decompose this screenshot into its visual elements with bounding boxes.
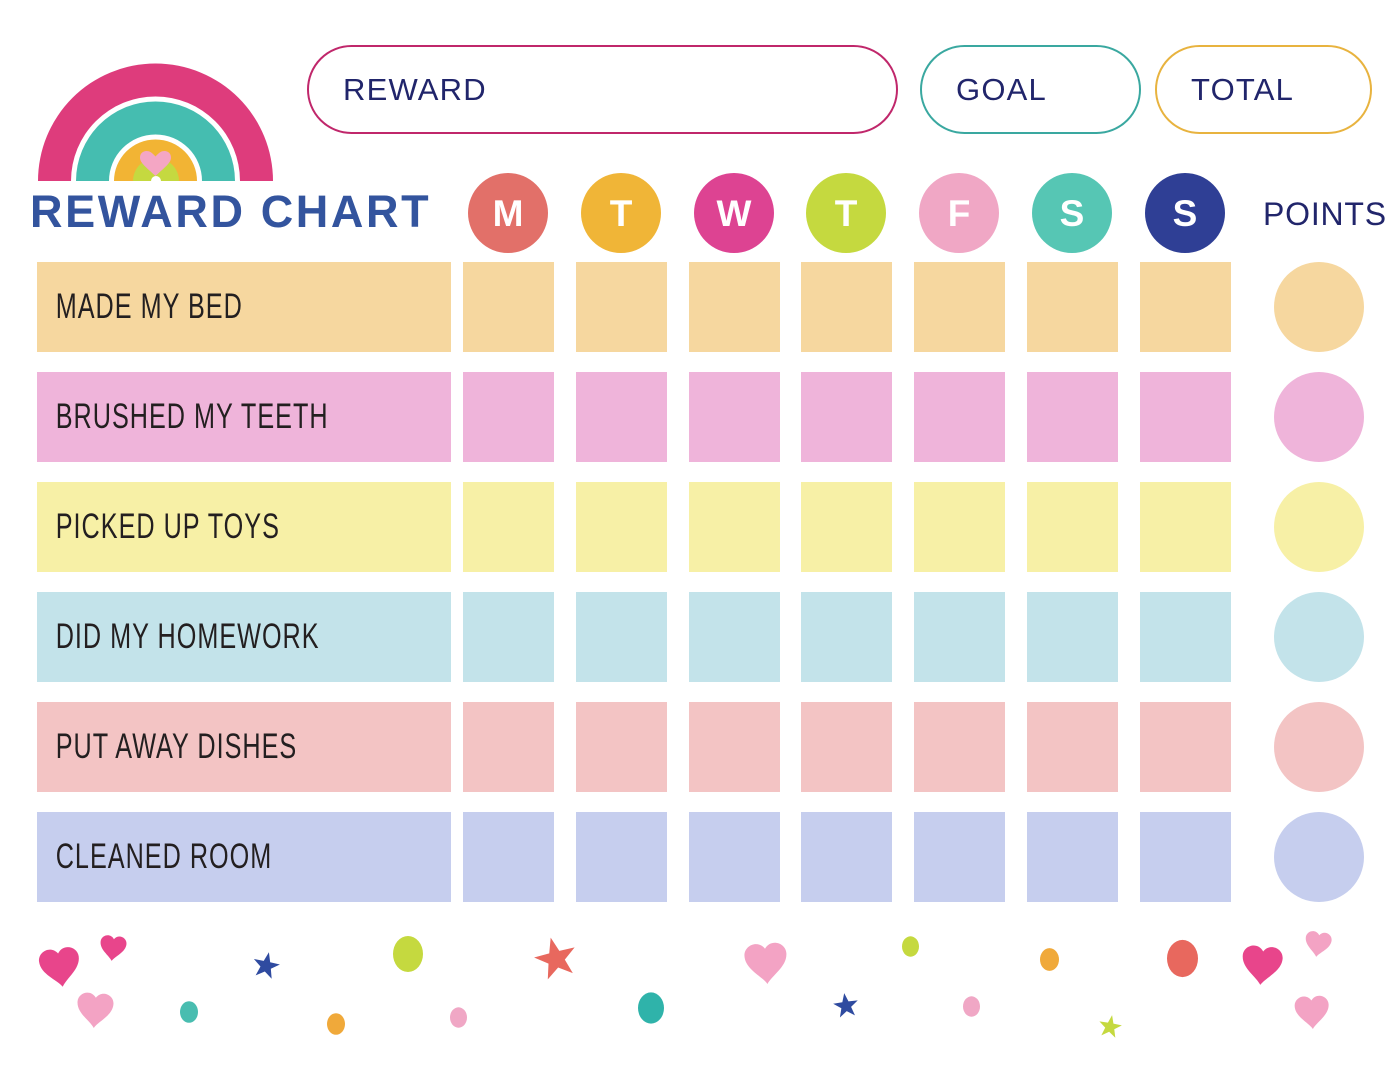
confetti-heart-icon xyxy=(38,946,83,990)
task-day-cell[interactable] xyxy=(463,482,554,572)
day-circle-monday[interactable]: M xyxy=(468,173,548,253)
task-day-cell[interactable] xyxy=(1140,372,1231,462)
confetti-star-icon xyxy=(530,933,580,982)
task-points-circle[interactable] xyxy=(1274,592,1364,682)
total-field[interactable]: TOTAL xyxy=(1155,45,1372,134)
task-day-cell[interactable] xyxy=(1027,702,1118,792)
task-day-cell[interactable] xyxy=(576,702,667,792)
confetti-star-icon xyxy=(1097,1013,1123,1038)
task-day-cell[interactable] xyxy=(463,592,554,682)
task-day-cell[interactable] xyxy=(576,372,667,462)
day-circle-letter: T xyxy=(835,195,858,232)
confetti-dot xyxy=(327,1013,345,1035)
confetti-heart-icon xyxy=(1240,945,1283,987)
task-day-cell[interactable] xyxy=(463,372,554,462)
confetti-heart-icon xyxy=(76,992,114,1029)
task-points-circle[interactable] xyxy=(1274,262,1364,352)
task-day-cell[interactable] xyxy=(801,262,892,352)
task-points-circle[interactable] xyxy=(1274,812,1364,902)
task-label-text: BRUSHED MY TEETH xyxy=(37,397,329,437)
goal-field[interactable]: GOAL xyxy=(920,45,1141,134)
task-day-cell[interactable] xyxy=(914,812,1005,902)
confetti-dot xyxy=(393,936,423,972)
task-day-cell[interactable] xyxy=(1027,812,1118,902)
reward-field[interactable]: REWARD xyxy=(307,45,898,134)
task-day-cell[interactable] xyxy=(1140,812,1231,902)
task-day-cell[interactable] xyxy=(1140,592,1231,682)
confetti-star-icon xyxy=(251,950,282,980)
task-label-row[interactable]: PUT AWAY DISHES xyxy=(37,702,451,792)
task-label-row[interactable]: DID MY HOMEWORK xyxy=(37,592,451,682)
day-circle-sunday[interactable]: S xyxy=(1145,173,1225,253)
day-circle-thursday[interactable]: T xyxy=(806,173,886,253)
page-title: REWARD CHART xyxy=(30,186,431,238)
confetti-heart-icon xyxy=(744,942,789,985)
task-label-text: PUT AWAY DISHES xyxy=(37,727,297,767)
confetti-dot xyxy=(902,936,919,956)
confetti-star-icon xyxy=(832,991,860,1018)
task-day-cell[interactable] xyxy=(689,372,780,462)
day-circle-friday[interactable]: F xyxy=(919,173,999,253)
task-points-circle[interactable] xyxy=(1274,372,1364,462)
task-day-cell[interactable] xyxy=(689,702,780,792)
confetti-heart-icon xyxy=(99,935,127,963)
task-day-cell[interactable] xyxy=(914,482,1005,572)
task-day-cell[interactable] xyxy=(689,482,780,572)
day-circle-saturday[interactable]: S xyxy=(1032,173,1112,253)
task-day-cell[interactable] xyxy=(1027,372,1118,462)
points-column-header: POINTS xyxy=(1263,196,1387,233)
confetti-dot xyxy=(638,992,664,1023)
task-day-cell[interactable] xyxy=(576,812,667,902)
confetti-heart-icon xyxy=(1303,930,1332,959)
task-day-cell[interactable] xyxy=(1027,482,1118,572)
day-circle-tuesday[interactable]: T xyxy=(581,173,661,253)
confetti-heart-icon xyxy=(1294,995,1330,1030)
day-circle-letter: S xyxy=(1060,195,1085,232)
task-day-cell[interactable] xyxy=(689,812,780,902)
task-label-row[interactable]: BRUSHED MY TEETH xyxy=(37,372,451,462)
total-field-label: TOTAL xyxy=(1157,72,1294,108)
task-day-cell[interactable] xyxy=(914,592,1005,682)
rainbow-icon xyxy=(28,18,283,183)
day-circle-wednesday[interactable]: W xyxy=(694,173,774,253)
task-day-cell[interactable] xyxy=(689,592,780,682)
day-circle-letter: T xyxy=(610,195,633,232)
task-day-cell[interactable] xyxy=(801,372,892,462)
task-day-cell[interactable] xyxy=(914,372,1005,462)
task-label-text: CLEANED ROOM xyxy=(37,837,272,877)
confetti-dot xyxy=(1040,948,1059,971)
day-circle-letter: F xyxy=(948,195,971,232)
task-label-text: DID MY HOMEWORK xyxy=(37,617,320,657)
task-day-cell[interactable] xyxy=(1140,262,1231,352)
task-label-text: MADE MY BED xyxy=(37,287,243,327)
task-label-row[interactable]: CLEANED ROOM xyxy=(37,812,451,902)
confetti-dot xyxy=(180,1001,198,1023)
task-day-cell[interactable] xyxy=(801,702,892,792)
confetti-dot xyxy=(450,1007,467,1027)
task-day-cell[interactable] xyxy=(1027,592,1118,682)
task-day-cell[interactable] xyxy=(463,812,554,902)
task-day-cell[interactable] xyxy=(576,262,667,352)
confetti-dot xyxy=(1167,940,1198,977)
task-day-cell[interactable] xyxy=(463,702,554,792)
task-day-cell[interactable] xyxy=(463,262,554,352)
task-points-circle[interactable] xyxy=(1274,702,1364,792)
task-label-row[interactable]: MADE MY BED xyxy=(37,262,451,352)
task-day-cell[interactable] xyxy=(914,262,1005,352)
task-points-circle[interactable] xyxy=(1274,482,1364,572)
task-day-cell[interactable] xyxy=(801,812,892,902)
task-day-cell[interactable] xyxy=(801,592,892,682)
task-day-cell[interactable] xyxy=(914,702,1005,792)
day-circle-letter: W xyxy=(717,195,752,232)
task-day-cell[interactable] xyxy=(576,592,667,682)
goal-field-label: GOAL xyxy=(922,72,1047,108)
reward-field-label: REWARD xyxy=(309,72,487,108)
confetti-dot xyxy=(963,996,980,1016)
task-day-cell[interactable] xyxy=(1140,702,1231,792)
task-day-cell[interactable] xyxy=(576,482,667,572)
day-circle-letter: S xyxy=(1173,195,1198,232)
day-circle-letter: M xyxy=(493,195,524,232)
decorative-confetti xyxy=(0,915,1400,1083)
task-day-cell[interactable] xyxy=(1027,262,1118,352)
task-day-cell[interactable] xyxy=(801,482,892,572)
task-label-row[interactable]: PICKED UP TOYS xyxy=(37,482,451,572)
task-day-cell[interactable] xyxy=(689,262,780,352)
task-label-text: PICKED UP TOYS xyxy=(37,507,280,547)
task-day-cell[interactable] xyxy=(1140,482,1231,572)
